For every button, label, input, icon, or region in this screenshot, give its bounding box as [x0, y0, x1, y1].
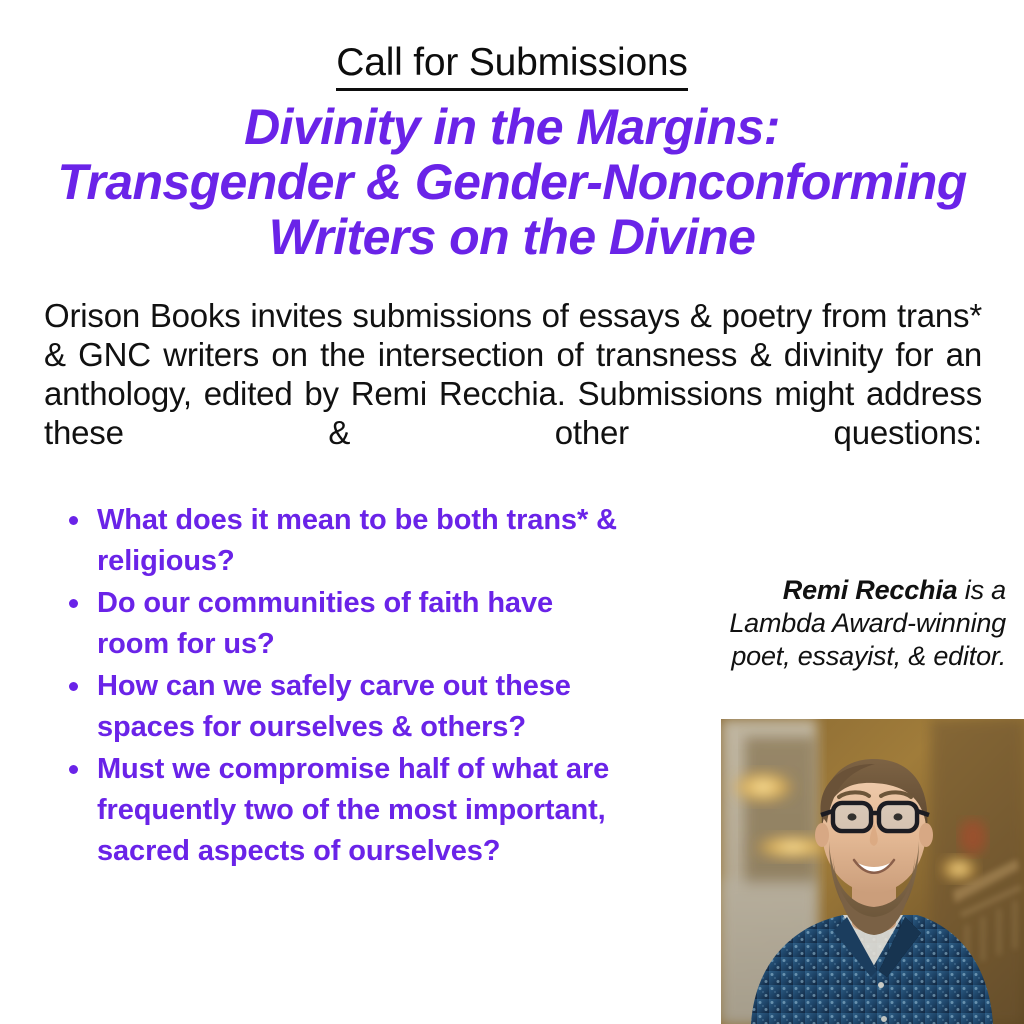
kicker-heading: Call for Submissions — [0, 40, 1024, 91]
list-item: How can we safely carve out these spaces… — [66, 666, 626, 748]
list-item-label: Do our communities of faith have room fo… — [97, 587, 553, 660]
bullet-dot-icon — [69, 765, 78, 774]
bullet-dot-icon — [69, 682, 78, 691]
bullet-dot-icon — [69, 516, 78, 525]
list-item: Must we compromise half of what are freq… — [66, 749, 626, 872]
list-item: Do our communities of faith have room fo… — [66, 583, 626, 665]
page-title: Divinity in the Margins: Transgender & G… — [30, 100, 994, 265]
editor-name: Remi Recchia — [783, 575, 958, 605]
intro-text: Orison Books invites submissions of essa… — [44, 296, 982, 491]
poster-canvas: Call for Submissions Divinity in the Mar… — [0, 0, 1024, 1024]
editor-portrait-photo — [721, 719, 1024, 1024]
list-item: What does it mean to be both trans* & re… — [66, 500, 626, 582]
kicker-text: Call for Submissions — [336, 40, 687, 91]
intro-paragraph: Orison Books invites submissions of essa… — [44, 296, 982, 491]
portrait-illustration — [721, 719, 1024, 1024]
title-line-3: Writers on the Divine — [30, 210, 994, 265]
list-item-label: Must we compromise half of what are freq… — [97, 753, 609, 867]
title-line-2: Transgender & Gender-Nonconforming — [30, 155, 994, 210]
list-item-label: What does it mean to be both trans* & re… — [97, 504, 617, 577]
title-line-1: Divinity in the Margins: — [30, 100, 994, 155]
bullet-dot-icon — [69, 599, 78, 608]
editor-bio: Remi Recchia is a Lambda Award-winning p… — [712, 574, 1006, 673]
questions-list: What does it mean to be both trans* & re… — [66, 500, 626, 873]
list-item-label: How can we safely carve out these spaces… — [97, 670, 571, 743]
